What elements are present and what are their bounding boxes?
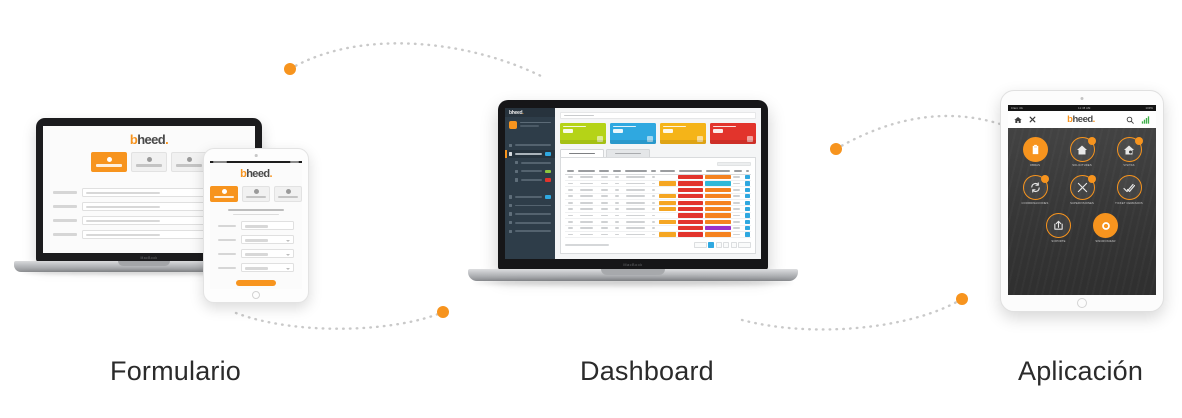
app-tile-label: TICKET CERRADOS (1115, 203, 1143, 206)
form-tab-datos-obra[interactable] (131, 152, 167, 172)
action-button[interactable] (745, 207, 751, 211)
app-tile-grid: OBRAS SOLICITUDES VI (1008, 128, 1156, 295)
camera-icon (1081, 97, 1084, 100)
logo-body: heed (137, 132, 165, 147)
sidebar-item-inicio[interactable] (505, 141, 555, 150)
stat-cards (560, 123, 756, 144)
status-badge (659, 207, 676, 211)
field-label (53, 219, 77, 221)
form-tab-datos-solicitante[interactable] (210, 186, 238, 202)
tablet-screen-formulario: bheed. (210, 161, 302, 289)
calendar-icon (509, 204, 512, 207)
stat-card-title (663, 126, 686, 128)
app-top-bar: bheed. (1008, 111, 1156, 128)
sidebar-item-label (515, 222, 551, 224)
pager-page-1[interactable] (708, 242, 714, 248)
table-cell (597, 231, 612, 237)
table-panel (560, 157, 756, 254)
status-badge (705, 181, 731, 185)
sidebar-item-label (515, 144, 551, 146)
form-row (218, 235, 294, 244)
table-cell (565, 231, 576, 237)
gear-icon (509, 221, 512, 224)
house-search-icon (1117, 137, 1142, 162)
stat-card-footer (610, 140, 656, 144)
caption-formulario: Formulario (110, 356, 241, 387)
status-badge (545, 195, 551, 199)
form-tab-datos-solicitante[interactable] (91, 152, 127, 172)
field-label (53, 205, 77, 207)
form-submit-button[interactable] (236, 280, 276, 285)
stat-card-en-proceso[interactable] (610, 123, 656, 144)
stat-card-title (563, 126, 586, 128)
form-tabs (91, 152, 207, 172)
laptop-brand-label: MacBook (623, 263, 642, 267)
field-input-direccion[interactable] (241, 235, 294, 244)
action-button[interactable] (745, 220, 751, 224)
home-icon (509, 144, 512, 147)
house-plus-icon (1070, 137, 1095, 162)
status-clock: 11:45 AM (1078, 107, 1090, 110)
app-tile-obras[interactable]: OBRAS (1015, 137, 1055, 167)
notification-badge (1088, 137, 1096, 145)
sidebar-user[interactable] (505, 121, 555, 133)
form-tab-label (246, 196, 266, 198)
logo-body: heed (512, 110, 522, 116)
arc-dot-dashboard-app-bottom (956, 293, 968, 305)
home-button-icon[interactable] (252, 291, 260, 299)
sidebar-item-label (521, 162, 551, 164)
home-button-icon[interactable] (1077, 298, 1087, 308)
app-tile-solicitudes[interactable]: SOLICITUDES (1062, 137, 1102, 167)
app-tile-ticket-cerrados[interactable]: TICKET CERRADOS (1109, 175, 1149, 205)
sidebar-section-label (505, 185, 555, 193)
stat-card-ingresadas[interactable] (560, 123, 606, 144)
sidebar-item-configuracion[interactable] (505, 218, 555, 227)
caption-aplicacion: Aplicación (1018, 356, 1143, 387)
sidebar-item-label (515, 196, 542, 198)
table-cell-fecha (732, 231, 743, 237)
form-tab-datos-tecnicos[interactable] (274, 186, 302, 202)
chart-icon (509, 195, 512, 198)
status-badge (678, 201, 704, 205)
export-icon (1046, 213, 1071, 238)
table-cell (623, 231, 649, 237)
table-cell (611, 231, 622, 237)
app-tile-label: VISITAS (1123, 165, 1134, 168)
field-label (53, 233, 77, 235)
app-tile-label: OBRAS (1030, 165, 1040, 168)
app-tile-row: SOPORTE SINCRONIZAR (1014, 213, 1150, 243)
tablet-device-formulario: bheed. (203, 148, 309, 303)
field-label (218, 253, 236, 255)
users-icon (509, 212, 512, 215)
form-subtitle (233, 214, 279, 215)
app-tile-label: SINCRONIZAR (1095, 241, 1115, 244)
status-badge (678, 226, 704, 230)
status-badge (659, 220, 676, 224)
field-label (218, 239, 236, 241)
sidebar-item-label (515, 153, 542, 155)
app-topbar-right (1126, 116, 1150, 124)
logo-body: heed (1072, 114, 1092, 125)
table-cell-accion[interactable] (744, 231, 752, 237)
app-tile-label: SOLICITUDES (1072, 165, 1092, 168)
sync-icon (1023, 175, 1048, 200)
status-badge (545, 170, 551, 174)
clipboard-icon (1023, 137, 1048, 162)
illustration-canvas: bheed. MacBook (0, 0, 1182, 418)
table-cell-prioridad (658, 231, 677, 237)
status-carrier: Claro 4G (1011, 107, 1023, 110)
app-tile-row: COORDINACIONES SUPERVISIONES TICKET (1014, 175, 1150, 205)
tablet-form-page: bheed. (210, 163, 302, 289)
status-badge (659, 201, 676, 205)
sidebar-section-label (505, 133, 555, 141)
form-row (218, 249, 294, 258)
status-badge (659, 181, 676, 185)
dot-icon (515, 170, 518, 173)
gear-icon (286, 189, 291, 194)
sidebar-item-coordinaciones[interactable] (505, 201, 555, 210)
sidebar-item-label (515, 213, 551, 215)
search-icon[interactable] (1126, 116, 1134, 124)
signal-icon (1141, 116, 1150, 124)
pager-page-2[interactable] (716, 242, 722, 248)
pager-page-3[interactable] (723, 242, 729, 248)
form-tab-label (96, 164, 122, 166)
field-input-comuna[interactable] (241, 249, 294, 258)
app-tile-sincronizar[interactable]: SINCRONIZAR (1086, 213, 1126, 243)
action-button[interactable] (745, 194, 751, 198)
stat-card-footer (560, 140, 606, 144)
field-label (218, 225, 236, 227)
form-tab-label (214, 196, 234, 198)
tablet-form-tabs (210, 186, 302, 202)
app-tile-row: OBRAS SOLICITUDES VI (1014, 137, 1150, 167)
arc-dashboard-app-bottom (742, 299, 962, 329)
logo-body: heed (246, 168, 269, 180)
app-topbar-left (1014, 116, 1036, 124)
breadcrumb (560, 112, 756, 119)
gear-icon (187, 157, 192, 162)
dot-icon (515, 178, 518, 181)
arc-dot-form-dashboard-top (284, 63, 296, 75)
status-badge (678, 188, 704, 192)
pager-page-4[interactable] (731, 242, 737, 248)
form-tab-datos-tecnicos[interactable] (171, 152, 207, 172)
notification-badge (1135, 137, 1143, 145)
tablet-screen-aplicacion: Claro 4G 11:45 AM 100% bheed. (1008, 105, 1156, 295)
logo-dot: . (1093, 114, 1095, 125)
sidebar-item-en-proceso[interactable] (505, 167, 555, 176)
sidebar-item-usuarios[interactable] (505, 210, 555, 219)
app-tile-coordinaciones[interactable]: COORDINACIONES (1015, 175, 1055, 205)
table-cell-estado (677, 231, 705, 237)
home-icon[interactable] (1014, 116, 1022, 124)
bheed-logo: bheed. (1067, 115, 1095, 125)
sidebar-user-text (520, 122, 551, 128)
stat-card-pendientes[interactable] (660, 123, 706, 144)
close-icon[interactable] (1029, 116, 1036, 123)
table-cell-etapa (704, 231, 732, 237)
form-title (228, 209, 284, 211)
logo-dot: . (269, 168, 271, 180)
action-button[interactable] (745, 188, 751, 192)
app-tile-label: SUPERVISIONES (1070, 203, 1094, 206)
tools-icon (1070, 175, 1095, 200)
logo-dot: . (522, 110, 523, 116)
form-tab-datos-obra[interactable] (242, 186, 270, 202)
status-badge (705, 220, 731, 224)
stat-card-title (613, 126, 636, 128)
notification-badge (1088, 175, 1096, 183)
status-badge (705, 207, 731, 211)
tab-solicitudes[interactable] (560, 149, 604, 157)
bheed-logo: bheed. (130, 133, 168, 146)
status-badge (678, 181, 704, 185)
check-double-icon (1117, 175, 1142, 200)
status-badge (705, 194, 731, 198)
sidebar-item-finalizadas[interactable] (505, 176, 555, 185)
arc-form-dashboard-bottom (236, 312, 443, 329)
caption-dashboard: Dashboard (580, 356, 714, 387)
table-row[interactable] (565, 231, 751, 237)
stat-card-value (713, 129, 723, 133)
status-badge (705, 226, 731, 230)
sidebar-item-label (521, 179, 542, 181)
status-badge (659, 194, 676, 198)
tablet-device-aplicacion: Claro 4G 11:45 AM 100% bheed. (1000, 90, 1164, 312)
app-tile-supervisiones[interactable]: SUPERVISIONES (1062, 175, 1102, 205)
status-badge (678, 194, 704, 198)
action-button[interactable] (745, 226, 751, 230)
status-badge (678, 175, 704, 179)
list-icon (509, 152, 512, 155)
status-badge (705, 213, 731, 217)
stat-card-value (663, 129, 673, 133)
status-badge (545, 152, 551, 156)
action-button[interactable] (745, 201, 751, 205)
building-icon (254, 189, 259, 194)
status-badge (678, 207, 704, 211)
sync-circle-icon (1093, 213, 1118, 238)
sidebar-bheed-logo: bheed. (505, 108, 555, 117)
status-badge (545, 178, 551, 182)
pager-next[interactable] (738, 242, 751, 248)
status-badge (659, 232, 676, 236)
form-tab-label (136, 164, 162, 166)
user-icon (222, 189, 227, 194)
table-search[interactable] (565, 162, 751, 166)
user-icon (107, 157, 112, 162)
arc-dot-dashboard-app-top (830, 143, 842, 155)
sidebar-item-label (521, 170, 542, 172)
laptop-notch (601, 269, 665, 275)
status-badge (705, 188, 731, 192)
status-battery: 100% (1146, 107, 1153, 110)
sidebar-item-cerrar-sesion[interactable] (505, 227, 555, 236)
sidebar-item-label (515, 230, 551, 232)
avatar (509, 121, 517, 129)
building-icon (147, 157, 152, 162)
table-cell (649, 231, 658, 237)
laptop-shadow (474, 279, 792, 286)
status-badge (705, 201, 731, 205)
stat-card-value (563, 129, 573, 133)
status-badge (678, 213, 704, 217)
logo-dot: . (165, 132, 168, 147)
app-tile-soporte[interactable]: SOPORTE (1039, 213, 1079, 243)
field-input-nombre[interactable] (241, 221, 294, 230)
laptop-brand-label: MacBook (141, 256, 158, 260)
laptop-screen-dashboard: bheed. (505, 108, 761, 259)
search-input[interactable] (717, 162, 751, 166)
solicitudes-table (565, 169, 751, 238)
form-row (218, 221, 294, 230)
arc-form-dashboard-top (290, 43, 545, 78)
action-button[interactable] (745, 232, 751, 236)
stat-card-title (713, 126, 736, 128)
dashboard-device-group: bheed. (468, 100, 798, 295)
stat-card-vencidas[interactable] (710, 123, 756, 144)
tab-historial[interactable] (606, 149, 650, 157)
status-badge (705, 232, 731, 236)
arc-dashboard-app-top (836, 116, 1000, 149)
action-button[interactable] (745, 175, 751, 179)
status-badge (678, 232, 704, 236)
logout-icon (509, 230, 512, 233)
dot-icon (515, 161, 518, 164)
sidebar-item-reportes[interactable] (505, 193, 555, 202)
action-button[interactable] (745, 181, 751, 185)
action-button[interactable] (745, 213, 751, 217)
camera-icon (255, 154, 258, 157)
status-badge (705, 175, 731, 179)
table-cell (576, 231, 596, 237)
sidebar-item-label (515, 205, 551, 207)
field-label (218, 267, 236, 269)
sidebar-item-solicitudes[interactable] (505, 150, 555, 159)
form-tab-label (176, 164, 202, 166)
dashboard-main (555, 108, 761, 259)
app-tile-label: SOPORTE (1051, 241, 1065, 244)
field-label (53, 191, 77, 193)
field-input-region[interactable] (241, 263, 294, 272)
app-tile-label: COORDINACIONES (1022, 203, 1049, 206)
stat-card-value (613, 129, 623, 133)
arc-dot-form-dashboard-bottom (437, 306, 449, 318)
dashboard-sidebar: bheed. (505, 108, 555, 259)
sidebar-item-ingresadas[interactable] (505, 158, 555, 167)
pager-info (565, 244, 609, 246)
form-tab-label (278, 196, 298, 198)
panel-tabs (560, 149, 756, 157)
stat-card-footer (660, 140, 706, 144)
form-row (218, 263, 294, 272)
notification-badge (1041, 175, 1049, 183)
laptop-lid-dashboard: bheed. (498, 100, 768, 270)
status-badge (678, 220, 704, 224)
pager-pages (694, 242, 752, 248)
table-pager (565, 242, 751, 248)
stat-card-footer (710, 140, 756, 144)
laptop-notch (118, 261, 170, 266)
bheed-logo: bheed. (240, 169, 272, 180)
pager-prev[interactable] (694, 242, 707, 248)
app-tile-visitas[interactable]: VISITAS (1109, 137, 1149, 167)
table-body (565, 174, 751, 238)
